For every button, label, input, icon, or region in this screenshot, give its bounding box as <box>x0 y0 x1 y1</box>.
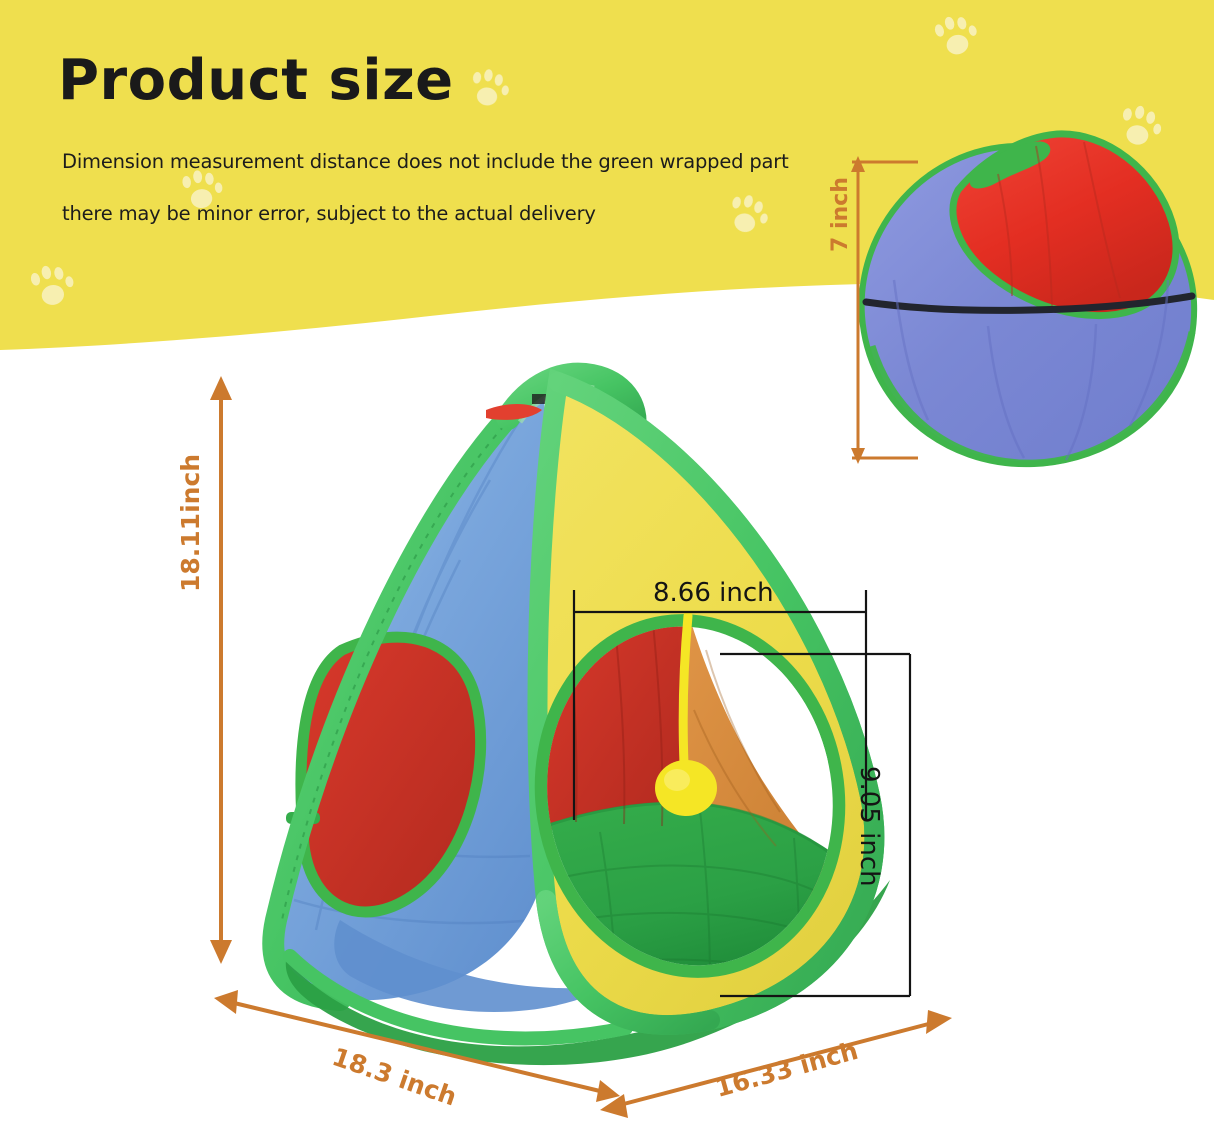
arrow-up-icon <box>210 376 232 400</box>
arrow-down-icon <box>210 940 232 964</box>
page-title: Product size <box>58 48 758 114</box>
arrow-left-icon <box>600 1094 628 1118</box>
tent-side-panel <box>273 384 555 1001</box>
subtitle-line-2: there may be minor error, subject to the… <box>62 202 596 225</box>
arrow-up-icon <box>851 156 865 172</box>
apex-loop <box>532 394 546 404</box>
subtitle-line-1: Dimension measurement distance does not … <box>62 150 789 173</box>
opening-width-label: 8.66 inch <box>653 578 774 608</box>
bag-height-label: 7 inch <box>828 177 853 252</box>
tent-height-label: 18.11inch <box>176 454 205 592</box>
opening-height-dimension <box>720 640 940 1020</box>
arrow-left-icon <box>214 990 238 1014</box>
infographic-root: Product size Dimension measurement dista… <box>0 0 1214 1142</box>
opening-height-label: 9.05 inch <box>854 766 884 887</box>
